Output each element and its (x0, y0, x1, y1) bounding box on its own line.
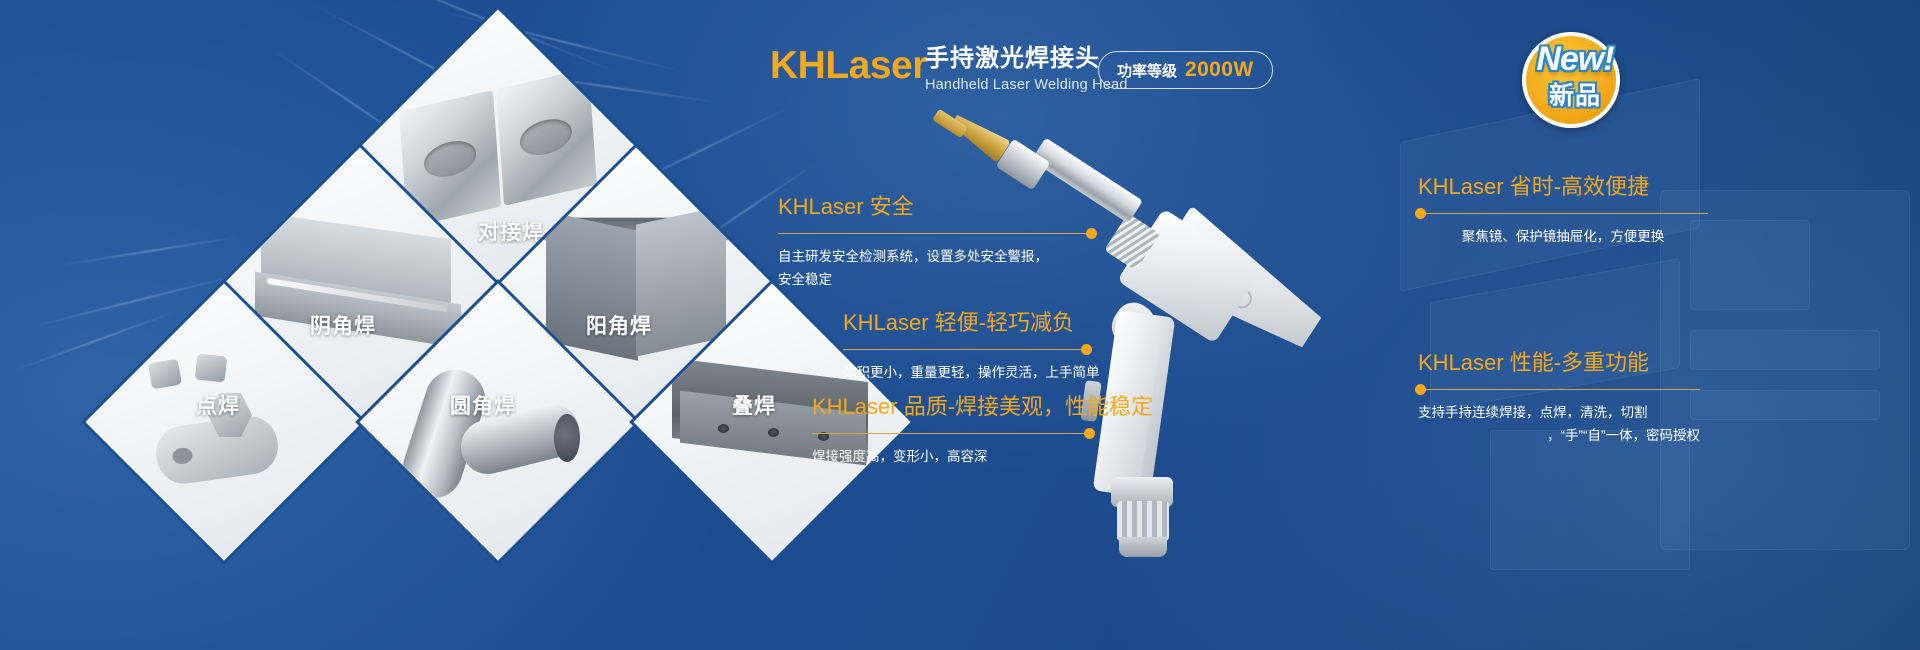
feature-rule-lightweight (843, 343, 1089, 357)
feature-rule-line (843, 349, 1089, 351)
feature-rule-dot-icon (1084, 428, 1095, 439)
feature-rule-safety (778, 227, 1094, 241)
feature-rule-line (1418, 389, 1700, 391)
feature-rule-dot-icon (1415, 384, 1426, 395)
feature-rule-line (778, 233, 1094, 235)
feature-rule-time-saving (1418, 207, 1708, 221)
weld-type-label-inner: 阴角焊 (310, 310, 376, 340)
feature-rule-quality (812, 427, 1092, 441)
feature-rule-dot-icon (1081, 344, 1092, 355)
spot-weld-nut-art (134, 347, 314, 497)
butt-weld-plates-art (399, 68, 597, 228)
new-product-badge: New! 新品 (1516, 28, 1634, 130)
weld-type-label-butt: 对接焊 (478, 216, 544, 246)
weld-type-label-lap: 叠焊 (732, 390, 776, 420)
feature-desc-safety-line2: 安全稳定 (778, 268, 1094, 292)
fillet-weld-pipe-art (408, 342, 588, 502)
feature-title-safety: KHLaser 安全 (778, 193, 1094, 222)
feature-callout-time-saving: KHLaser 省时-高效便捷 聚焦镜、保护镜抽屉化，方便更换 (1418, 173, 1708, 248)
weld-type-label-spot: 点焊 (196, 390, 240, 420)
feature-rule-line (1418, 213, 1708, 215)
feature-desc-time-saving-line1: 聚焦镜、保护镜抽屉化，方便更换 (1418, 225, 1708, 249)
power-rating-badge: 功率等级 2000W (1098, 51, 1273, 89)
feature-rule-line (812, 433, 1092, 435)
feature-desc-lightweight-line1: 体积更小，重量更轻，操作灵活，上手简单 (843, 361, 1089, 385)
feature-desc-safety-line1: 自主研发安全检测系统，设置多处安全警报， (778, 245, 1094, 269)
feature-desc-performance-line2: ，“手”“自”一体，密码授权 (1418, 424, 1700, 448)
feature-rule-dot-icon (1086, 228, 1097, 239)
feature-rule-dot-icon (1415, 208, 1426, 219)
feature-title-quality: KHLaser 品质-焊接美观，性能稳定 (812, 393, 1092, 422)
feature-title-time-saving: KHLaser 省时-高效便捷 (1418, 173, 1708, 202)
feature-callout-performance: KHLaser 性能-多重功能 支持手持连续焊接，点焊，清洗，切割 ，“手”“自… (1418, 349, 1700, 448)
new-badge-word: New! (1516, 42, 1634, 76)
feature-callout-safety: KHLaser 安全 自主研发安全检测系统，设置多处安全警报， 安全稳定 (778, 193, 1094, 292)
feature-title-lightweight: KHLaser 轻便-轻巧减负 (843, 309, 1089, 338)
feature-callout-lightweight: KHLaser 轻便-轻巧减负 体积更小，重量更轻，操作灵活，上手简单 (843, 309, 1089, 384)
feature-callout-quality: KHLaser 品质-焊接美观，性能稳定 焊接强度高，变形小，高容深 (812, 393, 1092, 468)
product-title-en: Handheld Laser Welding Head (925, 77, 1128, 93)
power-rating-value: 2000W (1185, 58, 1254, 82)
product-banner: 对接焊 阴角焊 阳角焊 (0, 0, 1920, 650)
power-rating-label: 功率等级 (1117, 60, 1177, 81)
feature-desc-quality-line1: 焊接强度高，变形小，高容深 (812, 445, 1092, 469)
feature-title-performance: KHLaser 性能-多重功能 (1418, 349, 1700, 378)
weld-type-label-fillet: 圆角焊 (450, 390, 516, 420)
brand-logo: KHLaser (770, 46, 927, 85)
new-badge-word-cn: 新品 (1520, 84, 1630, 109)
feature-rule-performance (1418, 383, 1700, 397)
brand-name-text: KHLaser (770, 46, 927, 85)
weld-type-diamond-grid: 对接焊 阴角焊 阳角焊 (118, 28, 818, 588)
background-machine-silhouette (1360, 70, 1920, 610)
weld-type-label-outer: 阳角焊 (586, 310, 652, 340)
feature-desc-performance-line1: 支持手持连续焊接，点焊，清洗，切割 (1418, 401, 1700, 425)
